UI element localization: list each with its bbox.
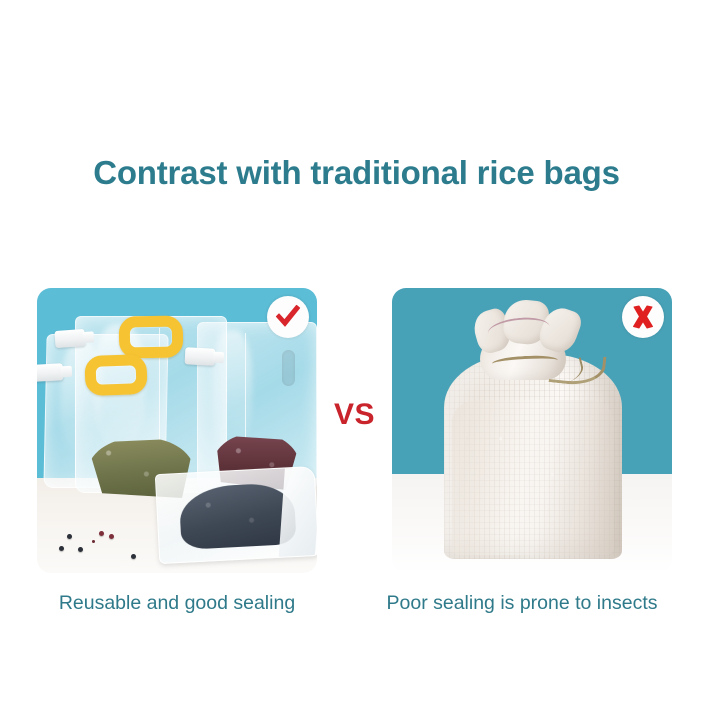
spout-cap-icon (37, 363, 63, 382)
page-title: Contrast with traditional rice bags (0, 154, 713, 192)
product-comparison-page: Contrast with traditional rice bags (0, 0, 713, 713)
scattered-bean (109, 534, 114, 539)
caption-right: Poor sealing is prone to insects (352, 592, 692, 615)
bag-flap (279, 466, 317, 561)
scattered-bean (92, 540, 95, 543)
status-badge (267, 296, 309, 338)
scattered-bean (59, 546, 64, 551)
scattered-bean (67, 534, 72, 539)
scattered-bean (78, 547, 83, 552)
comparison-panel-left[interactable] (37, 288, 317, 573)
spout-cap-icon (54, 329, 85, 348)
cross-icon (630, 304, 656, 330)
scattered-bean (99, 531, 104, 536)
status-badge (622, 296, 664, 338)
carry-handle (84, 354, 147, 396)
comparison-panel-right[interactable] (392, 288, 672, 573)
storage-bag-front-open (155, 466, 317, 564)
versus-label: VS (317, 398, 392, 432)
rice-grain-texture (452, 400, 614, 555)
spout-cap-icon (185, 347, 216, 366)
caption-left: Reusable and good sealing (17, 592, 337, 615)
bag-crease (245, 333, 246, 451)
scattered-bean (131, 554, 136, 559)
carry-handle (119, 315, 184, 358)
check-icon (274, 304, 302, 330)
comparison-row: VS (0, 288, 713, 573)
